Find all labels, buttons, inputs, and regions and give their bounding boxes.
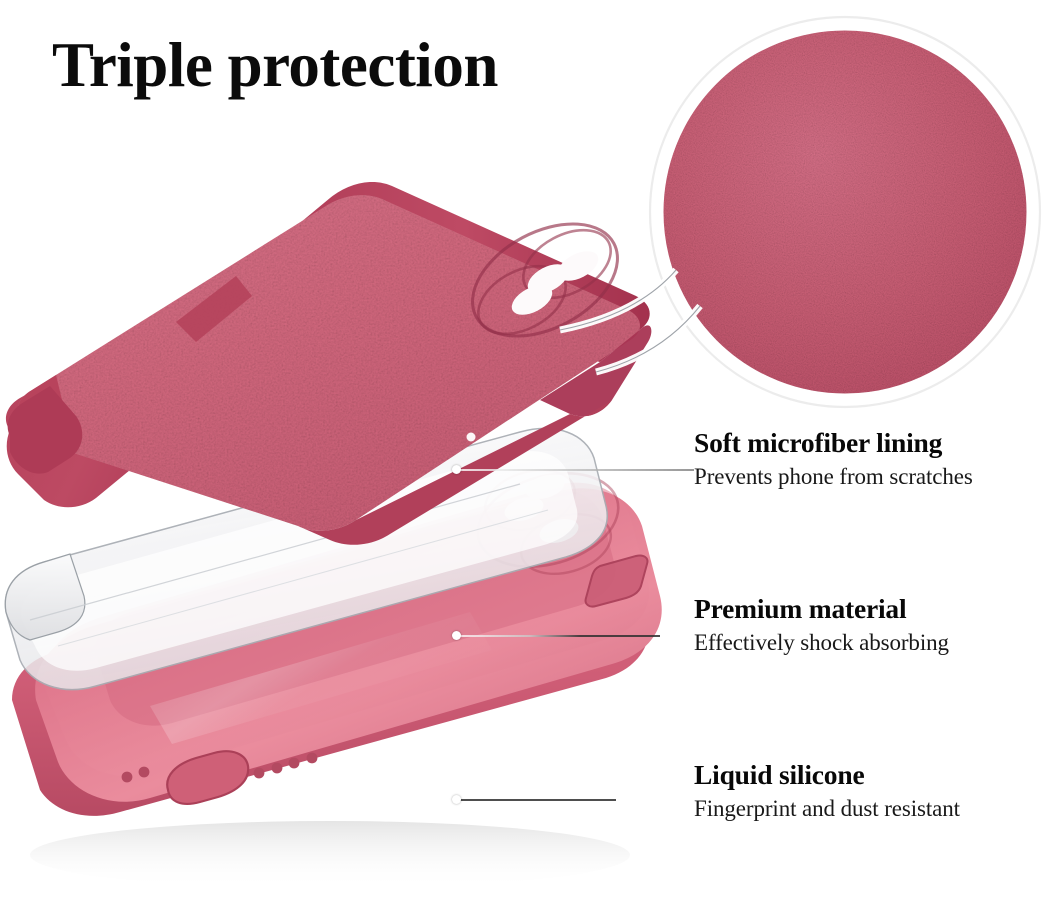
leader-line-liquid-silicone xyxy=(460,799,616,801)
feature-heading: Soft microfiber lining xyxy=(694,428,1039,459)
callout-dot-premium-material xyxy=(452,631,461,640)
feature-subtext: Fingerprint and dust resistant xyxy=(694,795,1039,823)
page-title: Triple protection xyxy=(52,34,498,97)
callout-dot-liquid-silicone xyxy=(452,795,461,804)
microfiber-texture-closeup xyxy=(649,16,1041,408)
feature-subtext: Prevents phone from scratches xyxy=(694,463,1039,491)
feature-block-liquid-silicone: Liquid silicone Fingerprint and dust res… xyxy=(694,760,1039,822)
infographic-root: Triple protection Soft microfiber lining… xyxy=(0,0,1047,923)
callout-dot-soft-microfiber-lining xyxy=(452,465,461,474)
leader-line-premium-material xyxy=(460,635,660,637)
feature-subtext: Effectively shock absorbing xyxy=(694,629,1039,657)
feature-block-premium-material: Premium material Effectively shock absor… xyxy=(694,594,1039,656)
feature-heading: Premium material xyxy=(694,594,1039,625)
feature-heading: Liquid silicone xyxy=(694,760,1039,791)
feature-block-soft-microfiber-lining: Soft microfiber lining Prevents phone fr… xyxy=(694,428,1039,490)
leader-line-soft-microfiber-lining xyxy=(460,469,694,471)
